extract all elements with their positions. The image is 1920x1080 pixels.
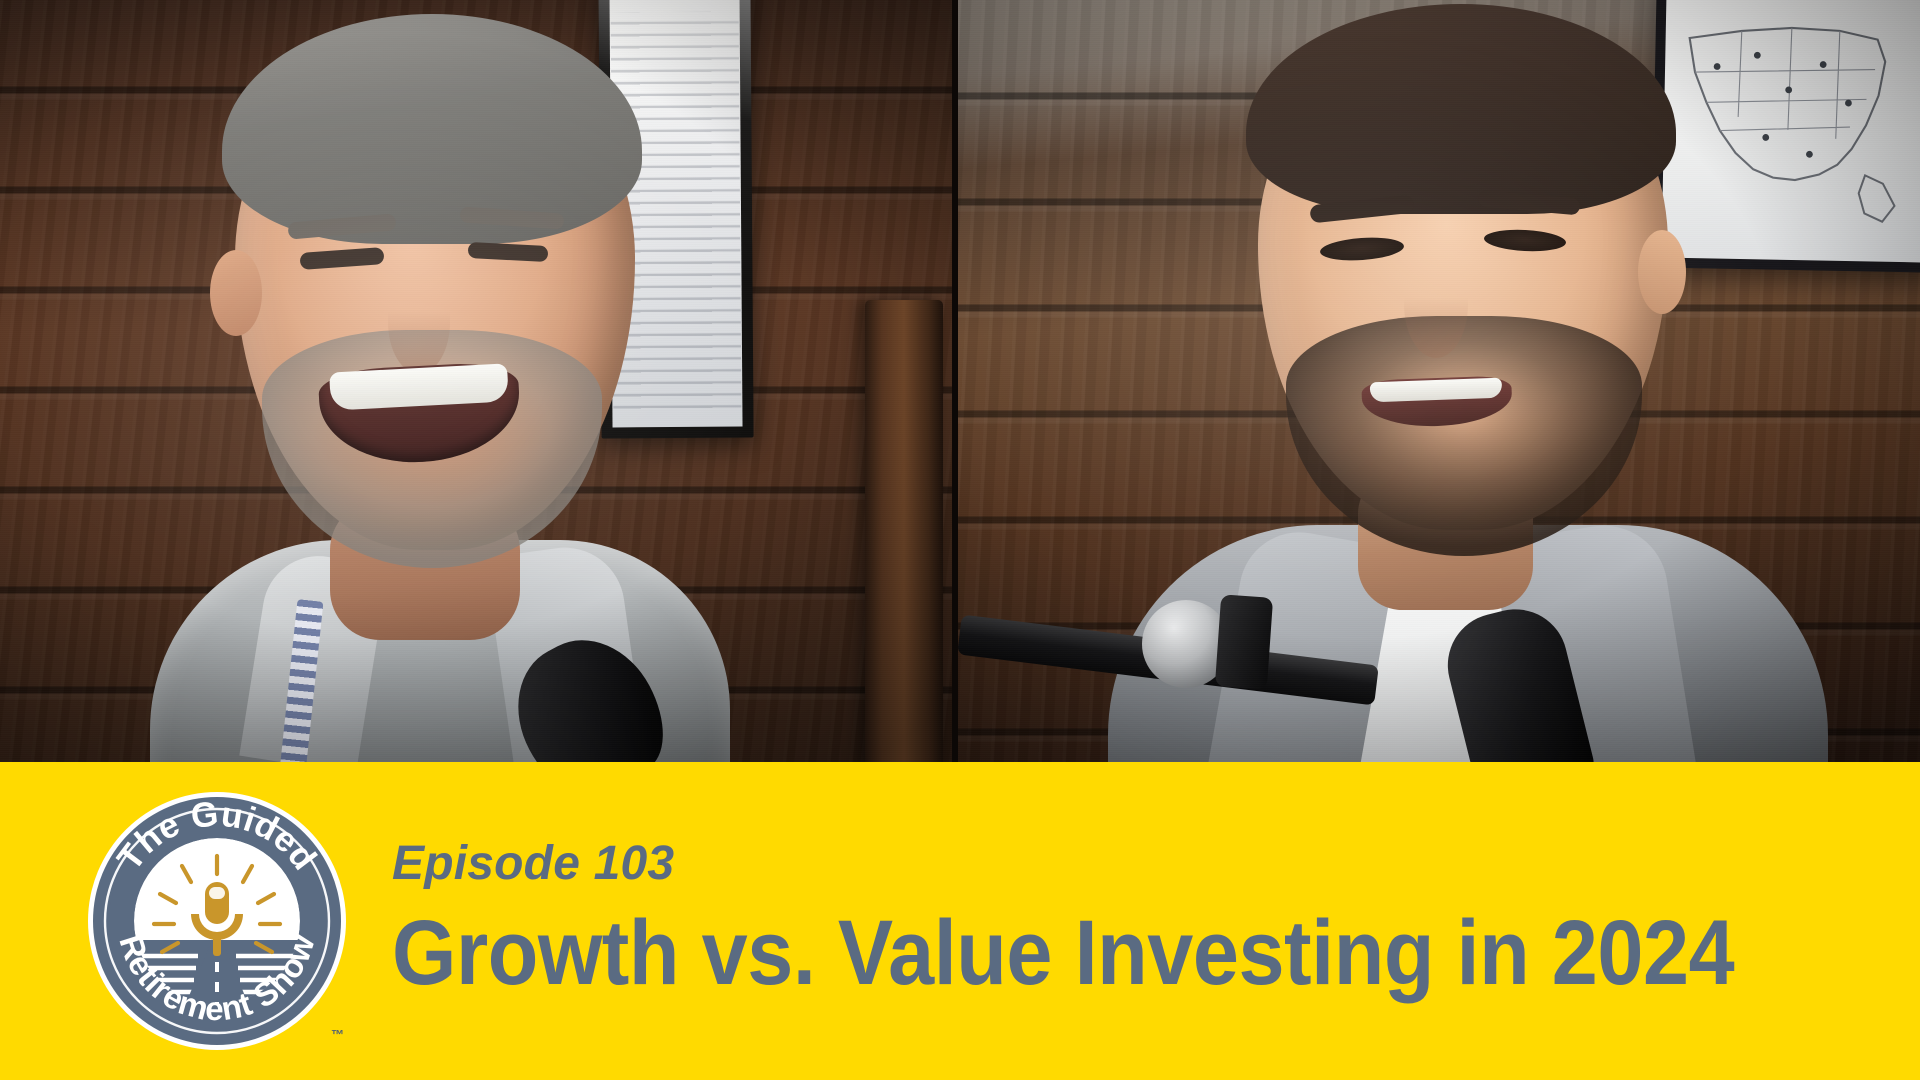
vignette-right (958, 0, 1920, 762)
banner-text-block: Episode 103 Growth vs. Value Investing i… (392, 840, 1883, 1002)
episode-title: Growth vs. Value Investing in 2024 (392, 906, 1734, 1002)
episode-thumbnail: The Guided Retirement Show ™ Episode 103… (0, 0, 1920, 1080)
the-guided-retirement-show-logo-icon: The Guided Retirement Show (86, 790, 348, 1052)
show-logo[interactable]: The Guided Retirement Show ™ (86, 790, 348, 1052)
lower-third-banner: The Guided Retirement Show ™ Episode 103… (0, 762, 1920, 1080)
trademark-symbol: ™ (331, 1027, 344, 1042)
vignette-left (0, 0, 952, 762)
episode-number-label: Episode 103 (392, 840, 1883, 888)
video-split-screen (0, 0, 1920, 762)
video-pane-right (958, 0, 1920, 762)
video-pane-left (0, 0, 952, 762)
